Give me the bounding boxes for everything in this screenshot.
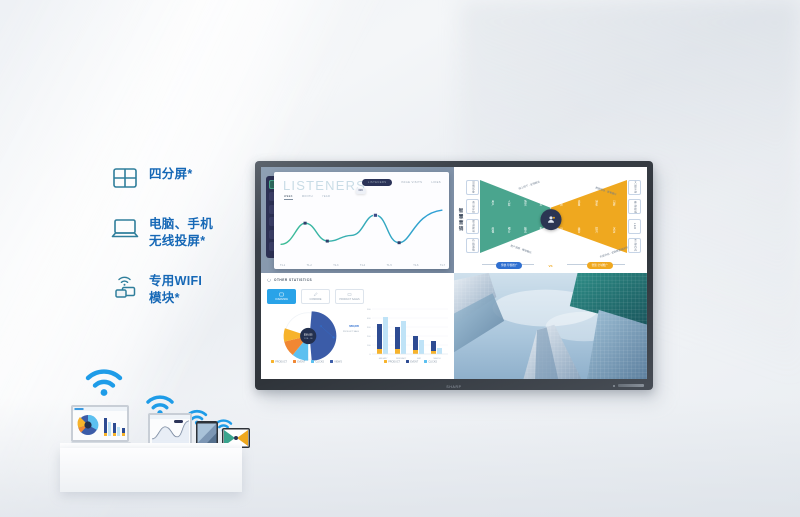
feature-list: 四分屏* 电脑、手机 无线投屏* 专用WIFI 模 bbox=[110, 164, 250, 327]
subnav-month[interactable]: MONTH bbox=[302, 195, 313, 200]
legend-label: EVENT bbox=[297, 361, 305, 364]
feature-label: 四分屏* bbox=[149, 164, 193, 183]
subnav-year[interactable]: YEAR bbox=[322, 195, 330, 200]
listeners-line-chart bbox=[276, 202, 447, 259]
band: 人群细分 bbox=[500, 180, 516, 253]
box-icon bbox=[347, 292, 352, 297]
chip-label: 大屏互动 bbox=[633, 181, 637, 193]
tab-label: PRODUCT SALES bbox=[339, 298, 359, 301]
chip: LED bbox=[628, 219, 641, 234]
subnav-week[interactable]: WEEK bbox=[284, 195, 293, 200]
quadrant-photo-skyscrapers[interactable] bbox=[454, 273, 647, 379]
page-title: LISTENERS bbox=[283, 178, 366, 193]
svg-text:300: 300 bbox=[367, 327, 371, 329]
x-axis-ticks: T1-1 T1-2 T1-3 T1-4 T1-5 T1-6 T1-7 bbox=[280, 264, 445, 267]
ir-sensor bbox=[613, 385, 615, 387]
legend-item: VIEWS bbox=[330, 360, 342, 364]
skyscraper-photo bbox=[454, 273, 647, 379]
donut-callout-label: PRODUCT SALE bbox=[343, 331, 359, 333]
chip-label: 移动终端 bbox=[633, 201, 637, 213]
legend-label: CLICKS bbox=[315, 361, 324, 364]
chip-label: 价格策略 bbox=[471, 239, 475, 251]
right-triangle: 内容分发 流量运营 转化提升 口碑沉淀 bbox=[551, 180, 628, 253]
period-subnav[interactable]: WEEK MONTH YEAR bbox=[284, 195, 330, 200]
tab-label: OVERVIEW bbox=[275, 298, 288, 301]
listeners-card: LISTENERS WEEK MONTH YEAR LISTENERS PAGE… bbox=[274, 172, 449, 269]
display-bezel: LISTENERS WEEK MONTH YEAR LISTENERS PAGE… bbox=[255, 161, 653, 390]
statistics-title: OTHER STATISTICS bbox=[274, 278, 312, 282]
interactive-display[interactable]: LISTENERS WEEK MONTH YEAR LISTENERS PAGE… bbox=[255, 161, 653, 390]
person-icon bbox=[545, 214, 556, 225]
chip-label: LED bbox=[633, 223, 636, 230]
band: 用户画像 bbox=[484, 180, 500, 253]
band: 流量运营 bbox=[570, 180, 587, 253]
quadrant-statistics[interactable]: OTHER STATISTICS OVERVIEW COMPARE bbox=[261, 273, 454, 379]
svg-text:200: 200 bbox=[367, 336, 371, 338]
feature-item-wifi-module: 专用WIFI 模块* bbox=[110, 271, 250, 308]
legend-label: PRODUCT bbox=[388, 361, 400, 364]
x-tick: T1-6 bbox=[413, 264, 418, 267]
feature-item-wireless-cast: 电脑、手机 无线投屏* bbox=[110, 214, 250, 251]
chip-label: 渠道建设 bbox=[471, 220, 475, 232]
vs-label: VS bbox=[548, 264, 552, 268]
laptop-icon bbox=[110, 214, 140, 244]
legend-item: PRODUCT bbox=[271, 360, 287, 364]
x-tick: T1-5 bbox=[387, 264, 392, 267]
display-screen: LISTENERS WEEK MONTH YEAR LISTENERS PAGE… bbox=[261, 167, 647, 379]
x-tick: T1-4 bbox=[360, 264, 365, 267]
tab-label: COMPARE bbox=[310, 298, 322, 301]
statistics-tabs[interactable]: OVERVIEW COMPARE PRODUCT SALES bbox=[267, 289, 364, 304]
legend-label: EVENT bbox=[410, 361, 418, 364]
chip: 渠道建设 bbox=[466, 219, 479, 234]
feature-label: 电脑、手机 无线投屏* bbox=[149, 214, 213, 251]
top-nav[interactable]: LISTENERS PAGE VISITS LIKES bbox=[362, 179, 441, 186]
tab-product-sales[interactable]: PRODUCT SALES bbox=[335, 289, 364, 304]
legend-item: CLICKS bbox=[424, 360, 437, 364]
diagram-title: 智慧营销 bbox=[458, 208, 464, 232]
left-outer-column: 品牌形象 商品定位 渠道建设 价格策略 bbox=[466, 178, 479, 255]
legend-item: PRODUCT bbox=[384, 360, 400, 364]
chip-label: 互动内容 bbox=[633, 239, 637, 251]
chip: 品牌形象 bbox=[466, 180, 479, 195]
bar-legend: PRODUCT EVENT CLICKS bbox=[384, 360, 437, 364]
pedestal bbox=[60, 448, 242, 492]
right-outer-column: 大屏互动 移动终端 LED 互动内容 bbox=[628, 178, 641, 255]
center-hub bbox=[540, 209, 561, 230]
statistics-header: OTHER STATISTICS bbox=[267, 278, 312, 282]
product-scene: 四分屏* 电脑、手机 无线投屏* 专用WIFI 模 bbox=[0, 0, 800, 517]
tab-page-visits[interactable]: PAGE VISITS bbox=[401, 181, 422, 184]
legend-label: PRODUCT bbox=[275, 361, 287, 364]
chip-label: 品牌形象 bbox=[471, 181, 475, 193]
legend-item: EVENT bbox=[406, 360, 418, 364]
button-smart[interactable]: 智慧·全域推广 bbox=[587, 262, 613, 269]
x-tick: T1-2 bbox=[307, 264, 312, 267]
chip: 互动内容 bbox=[628, 238, 641, 253]
svg-text:0: 0 bbox=[369, 354, 371, 356]
grid-icon bbox=[279, 292, 284, 297]
quadrant-strategy-diagram[interactable]: 智慧营销 品牌形象 商品定位 渠道建设 价格策略 用户画像 人群细分 场景触达 … bbox=[454, 167, 647, 273]
wifi-icon-1 bbox=[84, 366, 124, 398]
chart-tooltip: 636 bbox=[355, 188, 365, 194]
chip: 价格策略 bbox=[466, 238, 479, 253]
chip: 大屏互动 bbox=[628, 180, 641, 195]
quad-split-icon bbox=[110, 164, 140, 194]
chip: 商品定位 bbox=[466, 199, 479, 214]
band: 场景触达 bbox=[517, 180, 533, 253]
button-traditional[interactable]: 传统·导视推广 bbox=[496, 262, 522, 269]
svg-text:500: 500 bbox=[367, 309, 371, 311]
donut-legend: PRODUCT EVENT CLICKS VIEWS bbox=[271, 360, 342, 364]
x-tick: T1-7 bbox=[440, 264, 445, 267]
svg-text:100: 100 bbox=[367, 345, 371, 347]
refresh-icon bbox=[267, 278, 271, 282]
brand-logo: SHARP bbox=[446, 385, 461, 389]
tab-overview[interactable]: OVERVIEW bbox=[267, 289, 296, 304]
pencil-icon bbox=[313, 292, 318, 297]
legend-item: CLICKS bbox=[311, 360, 324, 364]
feature-label: 专用WIFI 模块* bbox=[149, 271, 202, 308]
quadrant-listeners[interactable]: LISTENERS WEEK MONTH YEAR LISTENERS PAGE… bbox=[261, 167, 454, 273]
wifi-screens-icon bbox=[110, 271, 140, 301]
donut-callout-value: $58,605 bbox=[349, 325, 359, 328]
svg-text:400: 400 bbox=[367, 318, 371, 320]
x-tick: T1-1 bbox=[280, 264, 285, 267]
chip-label: 商品定位 bbox=[471, 201, 475, 213]
tab-likes[interactable]: LIKES bbox=[431, 181, 441, 184]
legend-item: EVENT bbox=[293, 360, 305, 364]
donut-chart: $58,605 TOTAL · 100 $58,605 PRODUCT SALE… bbox=[265, 305, 357, 367]
control-strip bbox=[618, 384, 644, 387]
feature-item-quad-split: 四分屏* bbox=[110, 164, 250, 194]
diagonal-label-top-left: 线上线下 · 全域融合 bbox=[518, 179, 540, 190]
tab-compare[interactable]: COMPARE bbox=[301, 289, 330, 304]
donut-center-value: $58,605 bbox=[304, 334, 313, 337]
diagonal-label-bottom-left: 用户洞察 · 精准触达 bbox=[510, 243, 532, 254]
x-tick: T1-3 bbox=[333, 264, 338, 267]
legend-label: CLICKS bbox=[428, 361, 437, 364]
chip: 移动终端 bbox=[628, 199, 641, 214]
legend-label: VIEWS bbox=[334, 361, 342, 364]
bar-chart: 500400300 2001000 bbox=[362, 303, 450, 367]
tab-listeners[interactable]: LISTENERS bbox=[362, 179, 393, 186]
